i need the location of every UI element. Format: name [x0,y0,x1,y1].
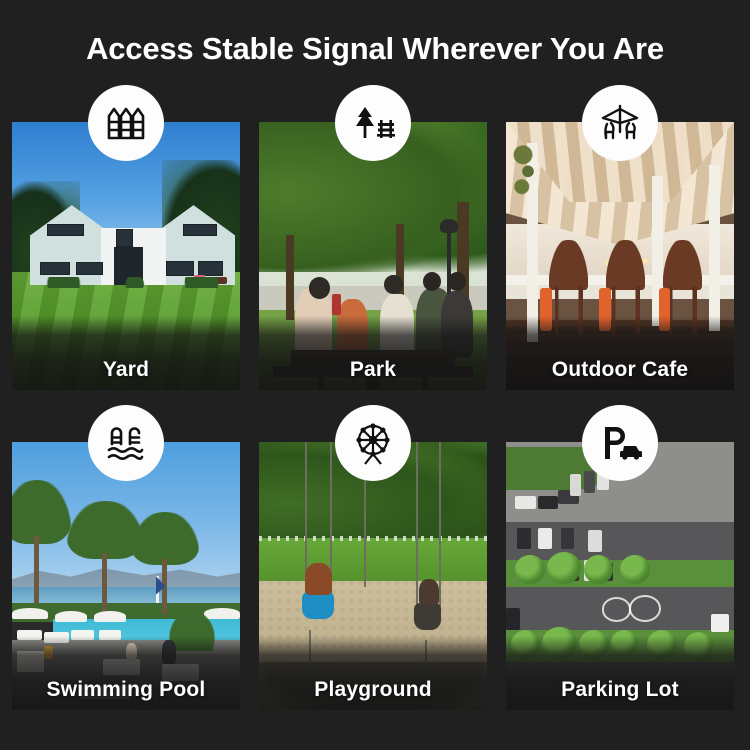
scene-tile-swimming-pool[interactable]: Swimming Pool [12,442,240,710]
tile-label: Park [350,358,396,382]
playground-label-strip: Playground [259,636,487,710]
page-title: Access Stable Signal Wherever You Are [0,31,750,67]
yard-photo: Yard [12,122,240,390]
yard-label-strip: Yard [12,316,240,390]
scene-tile-park[interactable]: Park [259,122,487,390]
scene-tile-yard[interactable]: Yard [12,122,240,390]
parking-car-icon [582,405,658,481]
tile-label: Yard [103,358,149,382]
swimming-pool-label-strip: Swimming Pool [12,636,240,710]
scene-tile-outdoor-cafe[interactable]: Outdoor Cafe [506,122,734,390]
fence-icon [88,85,164,161]
promo-banner: Access Stable Signal Wherever You Are [0,0,750,750]
scene-tile-parking-lot[interactable]: Parking Lot [506,442,734,710]
parking-lot-photo: Parking Lot [506,442,734,710]
ferris-wheel-icon [335,405,411,481]
tile-label: Outdoor Cafe [552,358,689,382]
park-photo: Park [259,122,487,390]
playground-photo: Playground [259,442,487,710]
parking-lot-label-strip: Parking Lot [506,636,734,710]
scene-tile-playground[interactable]: Playground [259,442,487,710]
parasol-chairs-icon [582,85,658,161]
pool-ladder-waves-icon [88,405,164,481]
scene-grid: Yard [12,122,738,742]
outdoor-cafe-photo: Outdoor Cafe [506,122,734,390]
park-label-strip: Park [259,316,487,390]
swimming-pool-photo: Swimming Pool [12,442,240,710]
tile-label: Parking Lot [561,678,679,702]
outdoor-cafe-label-strip: Outdoor Cafe [506,316,734,390]
tile-label: Swimming Pool [47,678,206,702]
tile-label: Playground [314,678,432,702]
tree-bench-icon [335,85,411,161]
